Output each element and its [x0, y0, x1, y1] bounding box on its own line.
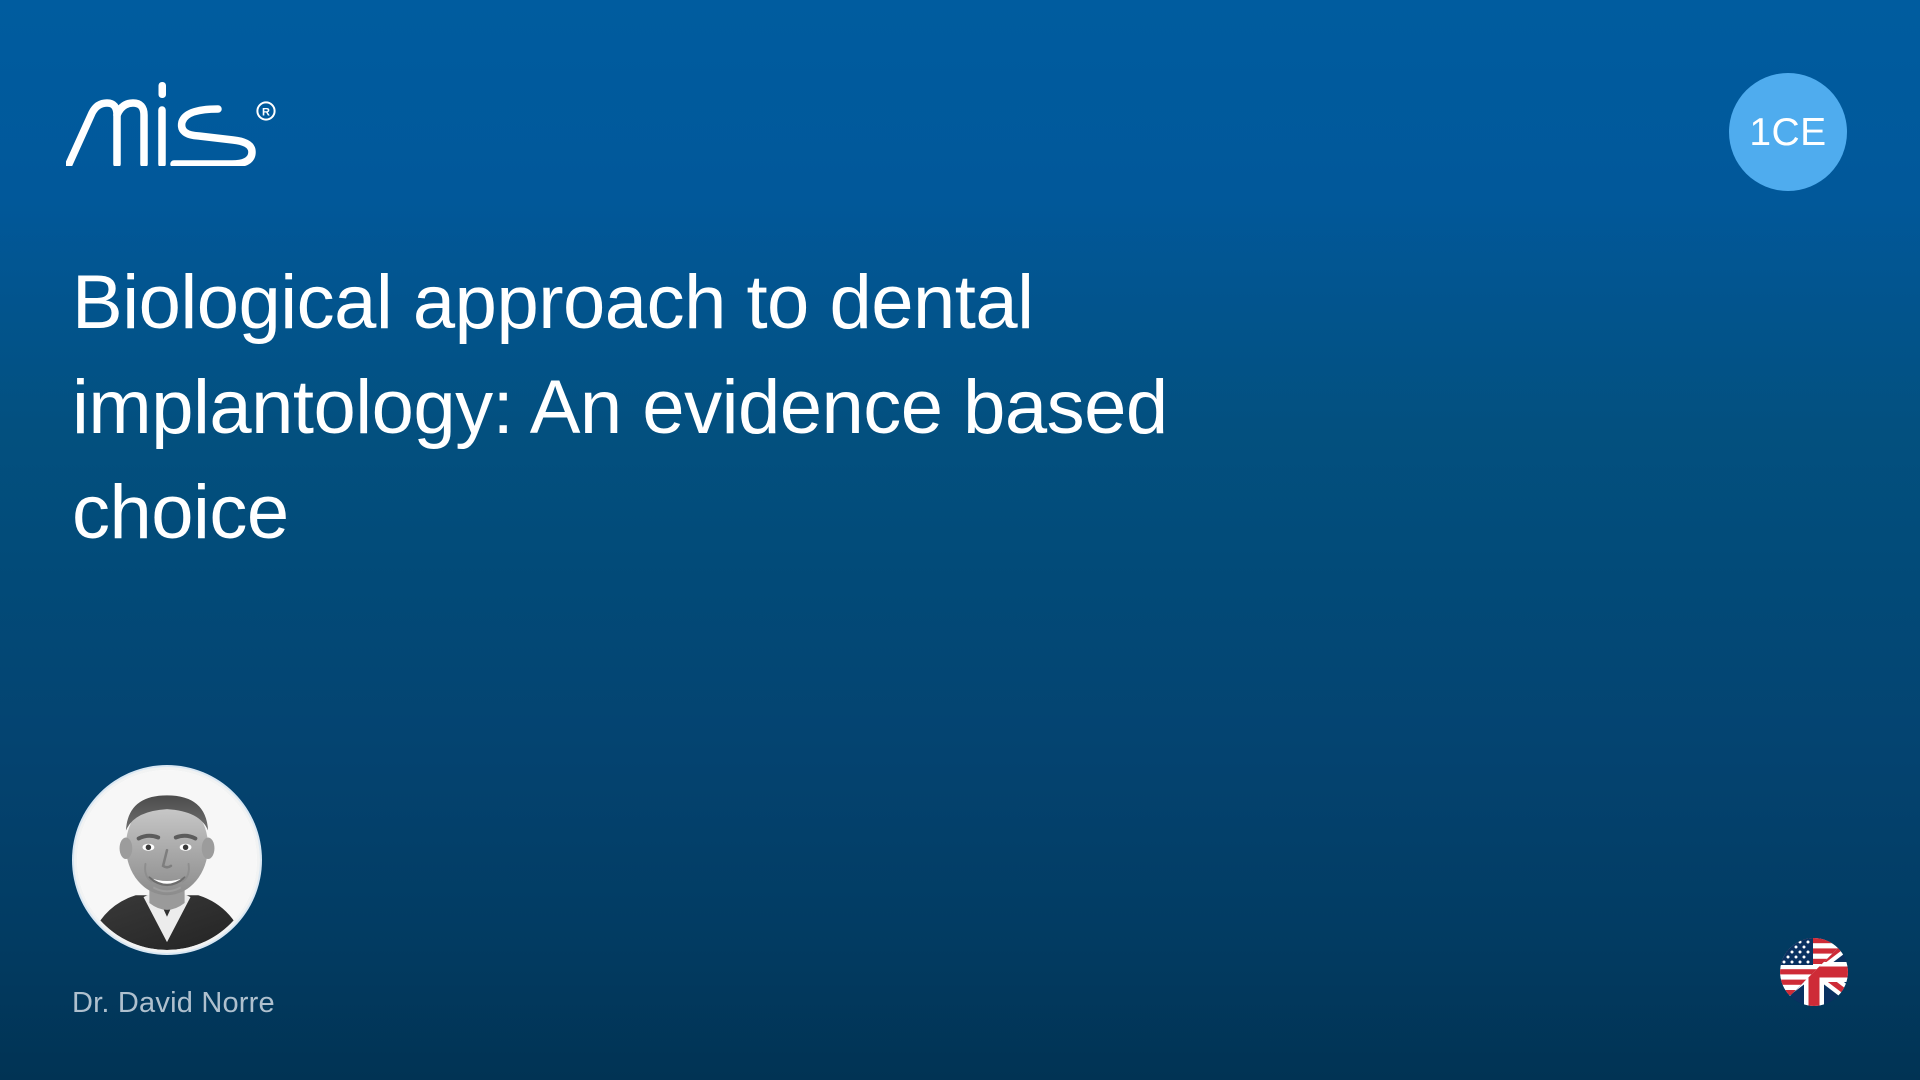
avatar: [72, 765, 262, 955]
presenter-name: Dr. David Norre: [72, 986, 492, 1020]
svg-text:R: R: [262, 107, 270, 119]
ce-credit-label: 1CE: [1749, 113, 1826, 152]
language-flag-icon: [1780, 938, 1848, 1006]
ce-credit-badge: 1CE: [1729, 73, 1847, 191]
avatar-photo: [77, 770, 257, 950]
page-title: Biological approach to dental implantolo…: [72, 250, 1372, 565]
title-block: Biological approach to dental implantolo…: [72, 250, 1402, 565]
mis-logo: R: [66, 80, 306, 166]
title-slide: R 1CE Biological approach to dental impl…: [0, 0, 1920, 1080]
presenter-block: Dr. David Norre: [72, 765, 492, 1020]
registered-trademark-icon: R: [257, 102, 274, 119]
